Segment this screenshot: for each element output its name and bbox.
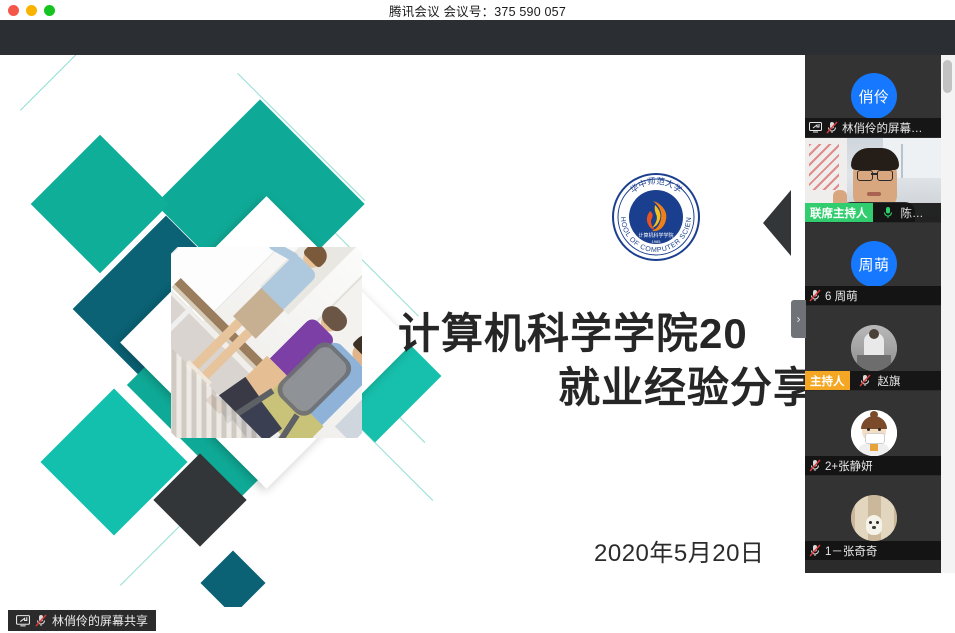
slide-photo-art — [171, 247, 362, 438]
screen-share-icon — [809, 122, 822, 133]
participant-namebar: 6 周萌 — [805, 286, 943, 305]
participant-tile[interactable]: 周萌 6 周萌 — [805, 223, 943, 305]
participant-name: 赵旗 — [878, 373, 901, 389]
avatar-photo — [851, 495, 897, 541]
avatar-photo — [851, 325, 897, 371]
slide-date: 2020年5月20日 — [594, 533, 764, 568]
mic-muted-icon — [859, 374, 871, 387]
screen-share-icon — [16, 615, 30, 627]
cohost-badge: 联席主持人 — [805, 203, 873, 222]
avatar-initials: 俏伶 — [851, 73, 897, 119]
panel-scrollbar-thumb[interactable] — [943, 60, 952, 93]
thin-line-1 — [20, 55, 185, 111]
slide-arrow-shape — [763, 190, 791, 256]
participant-name: 6 周萌 — [825, 288, 858, 304]
chevron-right-icon: › — [797, 312, 801, 326]
mic-muted-icon — [809, 544, 821, 557]
participant-namebar: 主持人 赵旗 — [805, 371, 943, 390]
mic-on-icon — [882, 206, 894, 219]
host-badge: 主持人 — [805, 371, 850, 390]
mic-muted-icon — [826, 121, 838, 134]
panel-scrollbar-track[interactable] — [941, 55, 955, 573]
participant-tile[interactable]: 俏伶 林俏伶的屏幕… — [805, 55, 943, 137]
svg-text:1985: 1985 — [652, 239, 662, 244]
diamond-teal-dark-small — [200, 550, 265, 607]
avatar-photo — [851, 410, 897, 456]
participant-name: 1－张奇奇 — [825, 543, 877, 559]
screen-share-label: 林俏伶的屏幕共享 — [52, 612, 148, 629]
participant-name: 2+张静妍 — [825, 458, 873, 474]
participant-namebar: 林俏伶的屏幕… — [805, 118, 943, 137]
screen-share-indicator[interactable]: 林俏伶的屏幕共享 — [8, 610, 156, 631]
meeting-window: 腾讯会议 会议号：375 590 057 — [0, 0, 955, 633]
avatar-initials: 周萌 — [851, 241, 897, 287]
svg-text:计算机科学学院: 计算机科学学院 — [638, 232, 673, 239]
top-toolbar-band — [0, 20, 955, 55]
collapse-panel-button[interactable]: › — [791, 300, 806, 338]
mic-muted-icon — [809, 459, 821, 472]
participant-tile[interactable]: 联席主持人 陈… — [805, 138, 943, 222]
participant-namebar: 2+张静妍 — [805, 456, 943, 475]
mic-muted-icon — [35, 614, 47, 627]
university-logo: 计算机科学学院 1985 华中师范大学 SCHOOL OF COMPUTER S… — [601, 171, 711, 263]
slide-title-line1: 计算机科学学院20 — [398, 310, 748, 357]
window-titlebar: 腾讯会议 会议号：375 590 057 — [0, 0, 955, 20]
mic-muted-icon — [809, 289, 821, 302]
window-title: 腾讯会议 会议号：375 590 057 — [0, 0, 955, 20]
participant-name: 陈… — [901, 205, 924, 221]
participant-namebar: 联席主持人 陈… — [805, 203, 943, 222]
participant-tile[interactable]: 主持人 赵旗 — [805, 306, 943, 390]
participant-tile[interactable]: 2+张静妍 — [805, 391, 943, 475]
slide-photo — [171, 247, 362, 438]
participant-namebar: 1－张奇奇 — [805, 541, 943, 560]
participants-panel[interactable]: 俏伶 林俏伶的屏幕… — [805, 55, 943, 573]
participant-tile[interactable]: 1－张奇奇 — [805, 476, 943, 560]
slide-title-line2: 就业经验分享 — [398, 361, 816, 415]
participant-name: 林俏伶的屏幕… — [842, 120, 923, 136]
